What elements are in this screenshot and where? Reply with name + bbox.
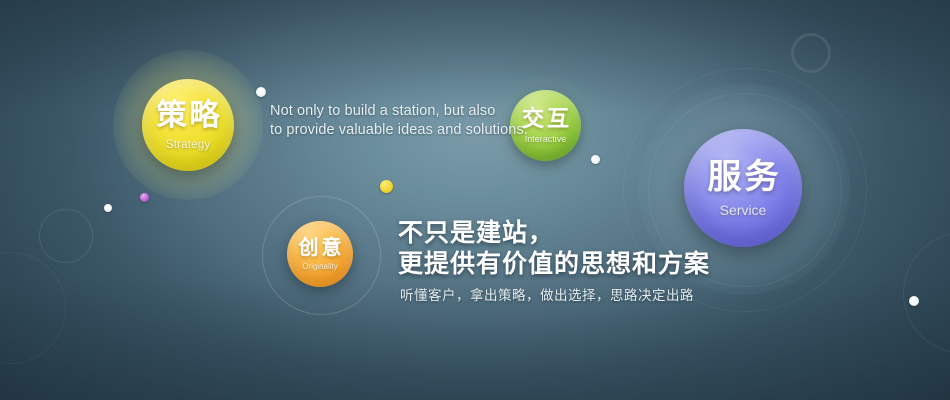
english-tagline-line-2: to provide valuable ideas and solutions. <box>270 121 528 140</box>
bubble-strategy[interactable]: 策略 Strategy <box>142 79 234 171</box>
bubble-strategy-subtitle: Strategy <box>166 138 211 150</box>
bubble-originality[interactable]: 创意 Originality <box>287 221 353 287</box>
hero-banner: 策略 Strategy 交互 Interactive 创意 Originalit… <box>0 0 950 400</box>
subheadline: 听懂客户，拿出策略，做出选择，思路决定出路 <box>400 287 694 305</box>
headline-line-1: 不只是建站， <box>398 218 710 249</box>
bubble-originality-title: 创意 <box>296 238 345 258</box>
bubble-service-title: 服务 <box>705 160 782 194</box>
english-tagline: Not only to build a station, but also to… <box>270 102 528 140</box>
bubble-service-subtitle: Service <box>720 203 767 217</box>
bubble-interactive-subtitle: Interactive <box>525 135 567 144</box>
background-edge-shading <box>0 0 950 400</box>
headline: 不只是建站， 更提供有价值的思想和方案 <box>398 218 710 280</box>
bubble-strategy-title: 策略 <box>154 101 223 131</box>
headline-line-2: 更提供有价值的思想和方案 <box>398 249 710 280</box>
bubble-originality-subtitle: Originality <box>302 263 338 271</box>
english-tagline-line-1: Not only to build a station, but also <box>270 102 528 121</box>
